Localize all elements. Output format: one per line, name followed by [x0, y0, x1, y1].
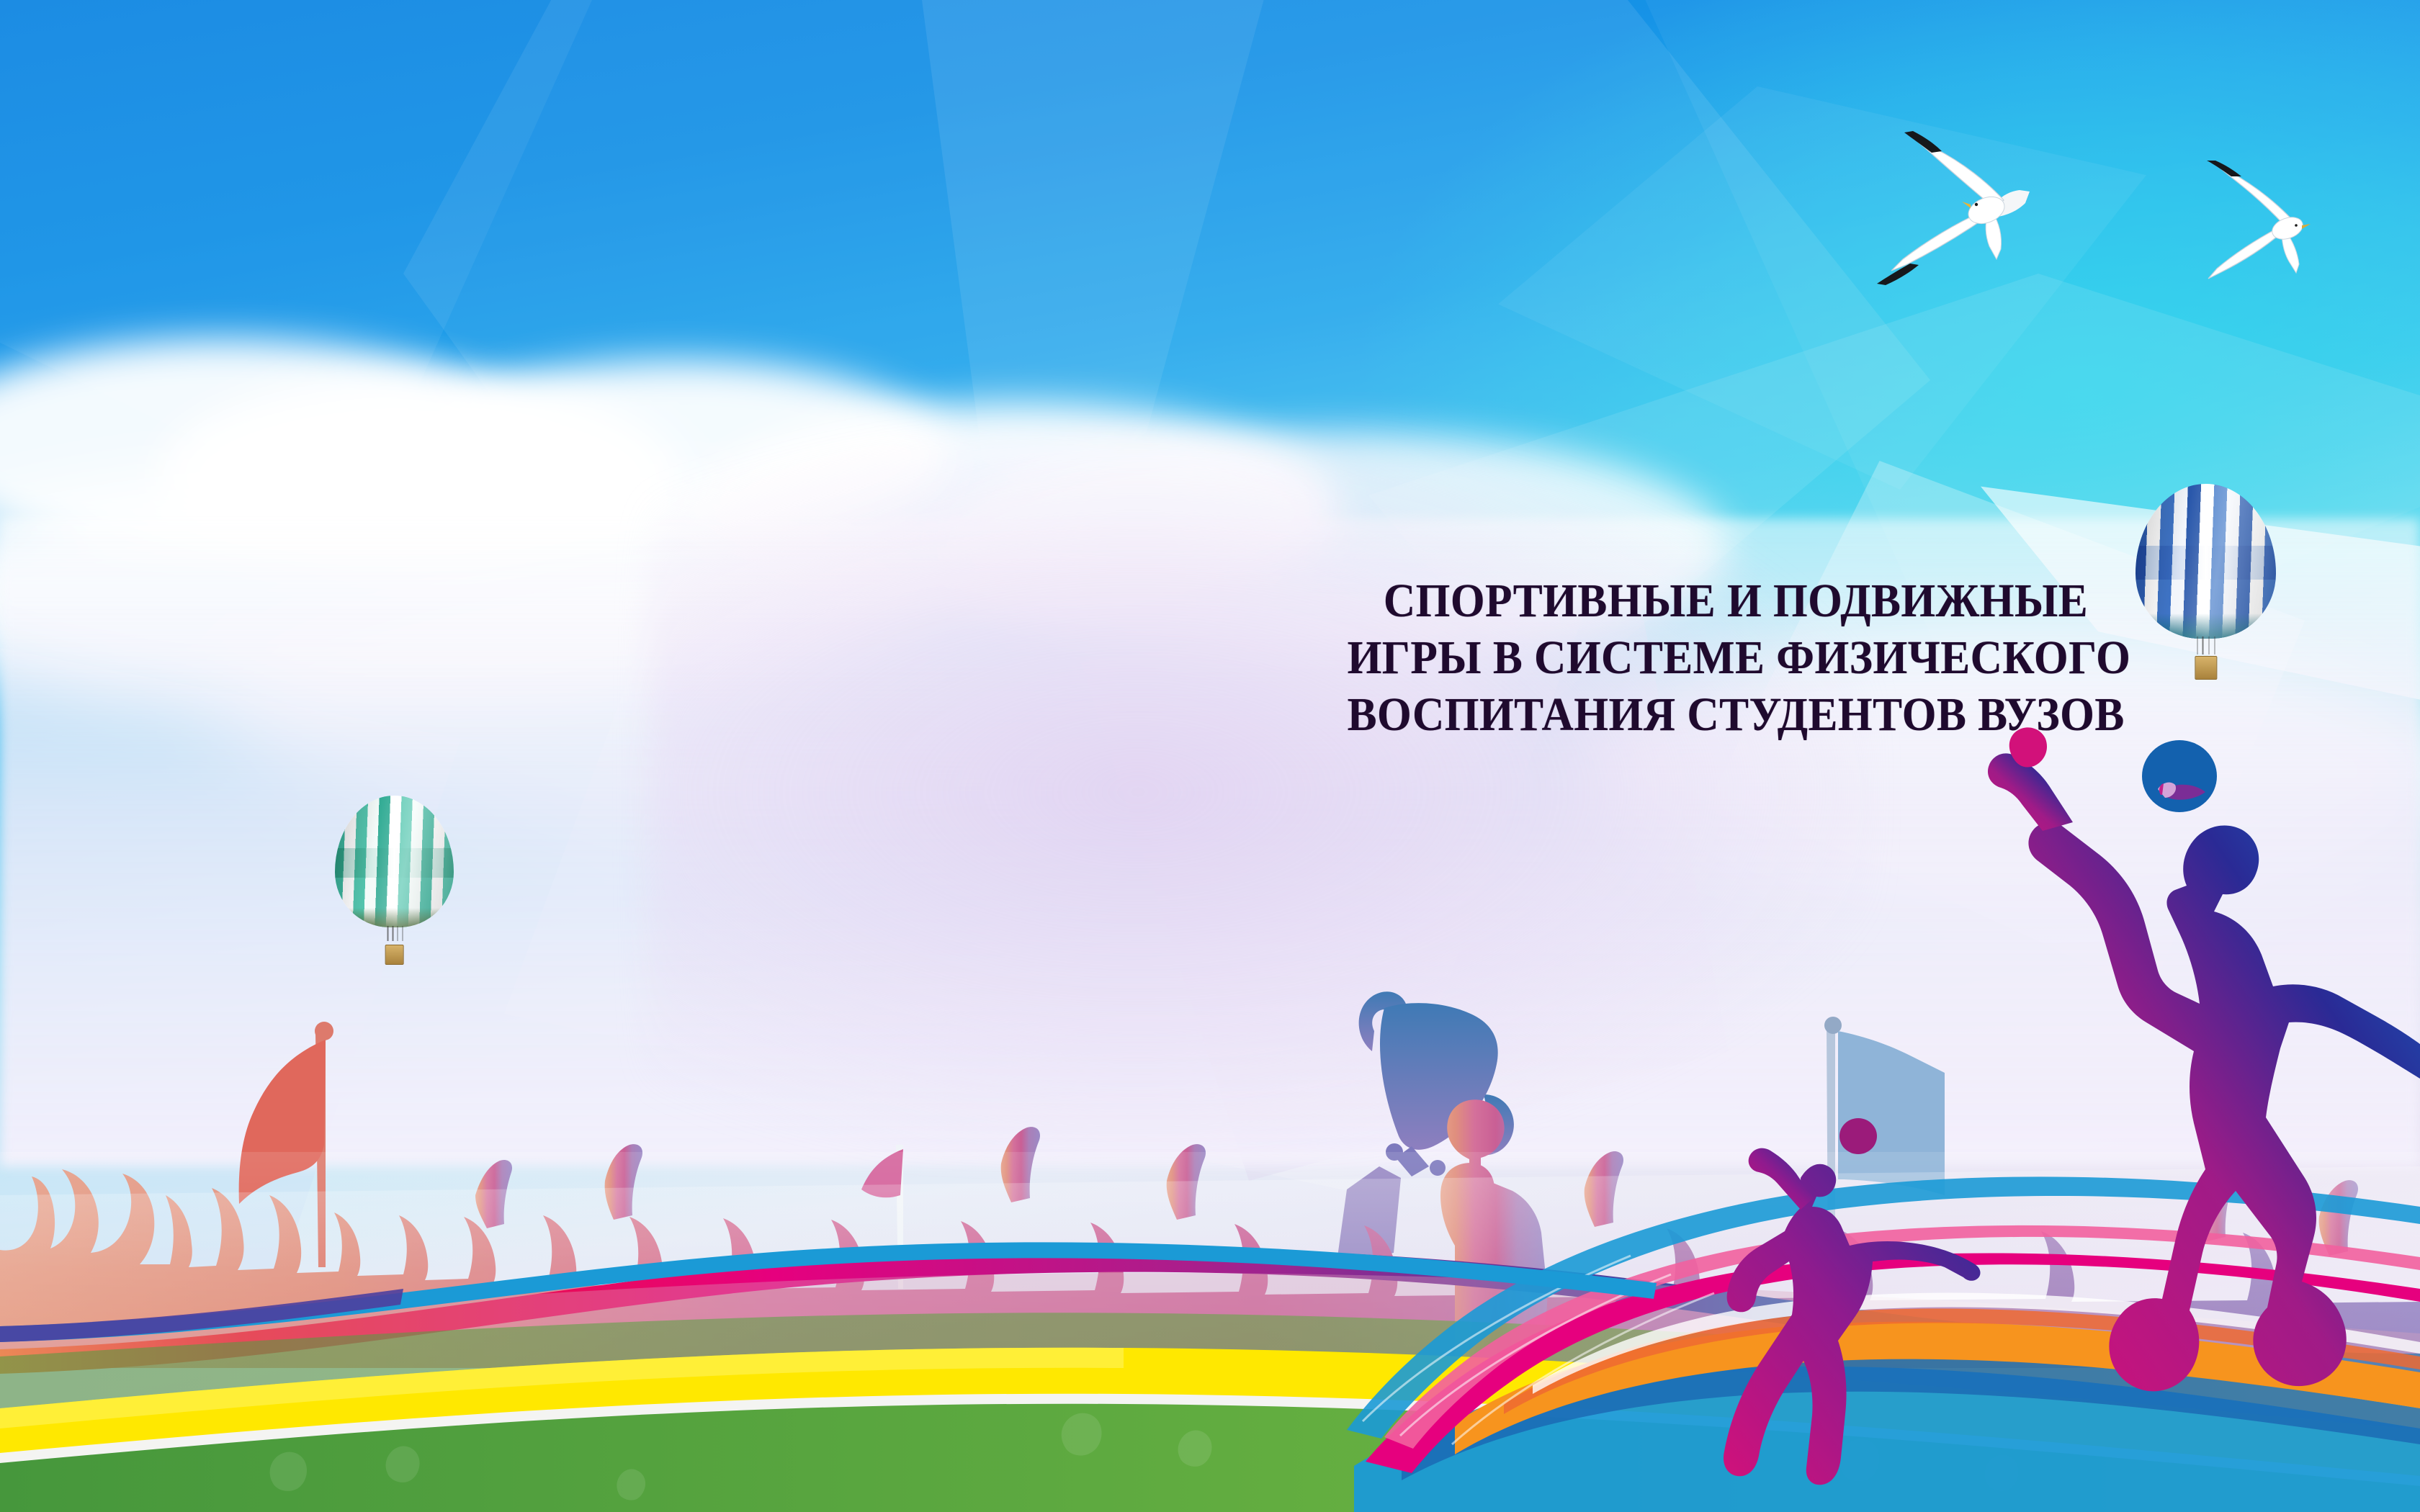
ball-icon	[2142, 740, 2217, 812]
sport-poster: СПОРТИВНЫЕ И ПОДВИЖНЫЕ ИГРЫ В СИСТЕМЕ ФИ…	[0, 0, 2420, 1512]
title-line-3: ВОСПИТАНИЯ СТУДЕНТОВ ВУЗОВ	[1348, 686, 2125, 743]
title-line-2: ИГРЫ В СИСТЕМЕ ФИЗИЧЕСКОГО	[1348, 629, 2125, 686]
foreground-scene	[0, 0, 2420, 1512]
page-title: СПОРТИВНЫЕ И ПОДВИЖНЫЕ ИГРЫ В СИСТЕМЕ ФИ…	[1348, 572, 2125, 744]
title-line-1: СПОРТИВНЫЕ И ПОДВИЖНЫЕ	[1348, 572, 2125, 629]
